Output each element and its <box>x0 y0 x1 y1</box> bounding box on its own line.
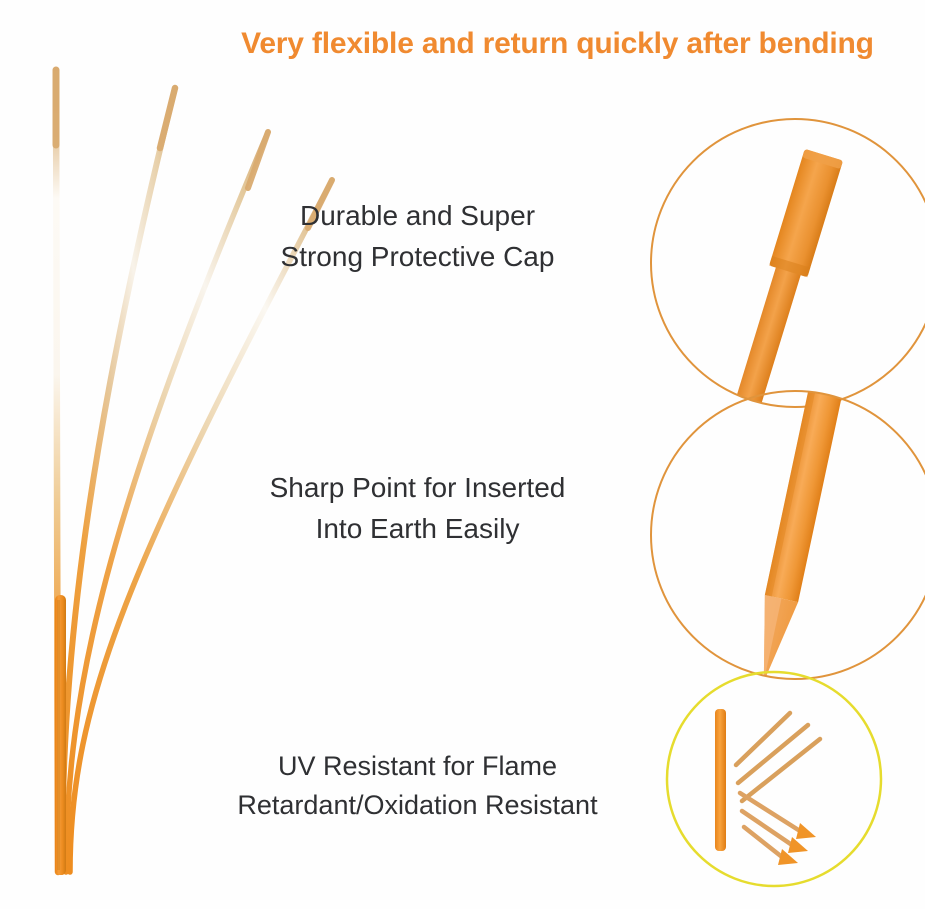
feature-sharp-point-text: Sharp Point for Inserted Into Earth Easi… <box>190 468 645 549</box>
feature-uv-resistant-text: UV Resistant for Flame Retardant/Oxidati… <box>190 747 645 825</box>
protective-cap-detail-icon <box>645 113 925 418</box>
feature-sharp-point: Sharp Point for Inserted Into Earth Easi… <box>190 380 925 655</box>
infographic-stage: Very flexible and return quickly after b… <box>0 0 925 909</box>
feature-protective-cap-text: Durable and Super Strong Protective Cap <box>190 196 645 277</box>
sharp-point-detail-icon <box>645 385 925 690</box>
uv-resistant-detail-icon <box>660 665 888 898</box>
feature-line: Durable and Super <box>190 196 645 237</box>
feature-line: UV Resistant for Flame <box>190 747 645 786</box>
feature-line: Strong Protective Cap <box>190 237 645 278</box>
feature-line: Into Earth Easily <box>190 509 645 550</box>
feature-line: Retardant/Oxidation Resistant <box>190 786 645 825</box>
feature-uv-resistant: UV Resistant for Flame Retardant/Oxidati… <box>190 655 925 909</box>
feature-protective-cap: Durable and Super Strong Protective Cap <box>190 108 925 388</box>
feature-line: Sharp Point for Inserted <box>190 468 645 509</box>
